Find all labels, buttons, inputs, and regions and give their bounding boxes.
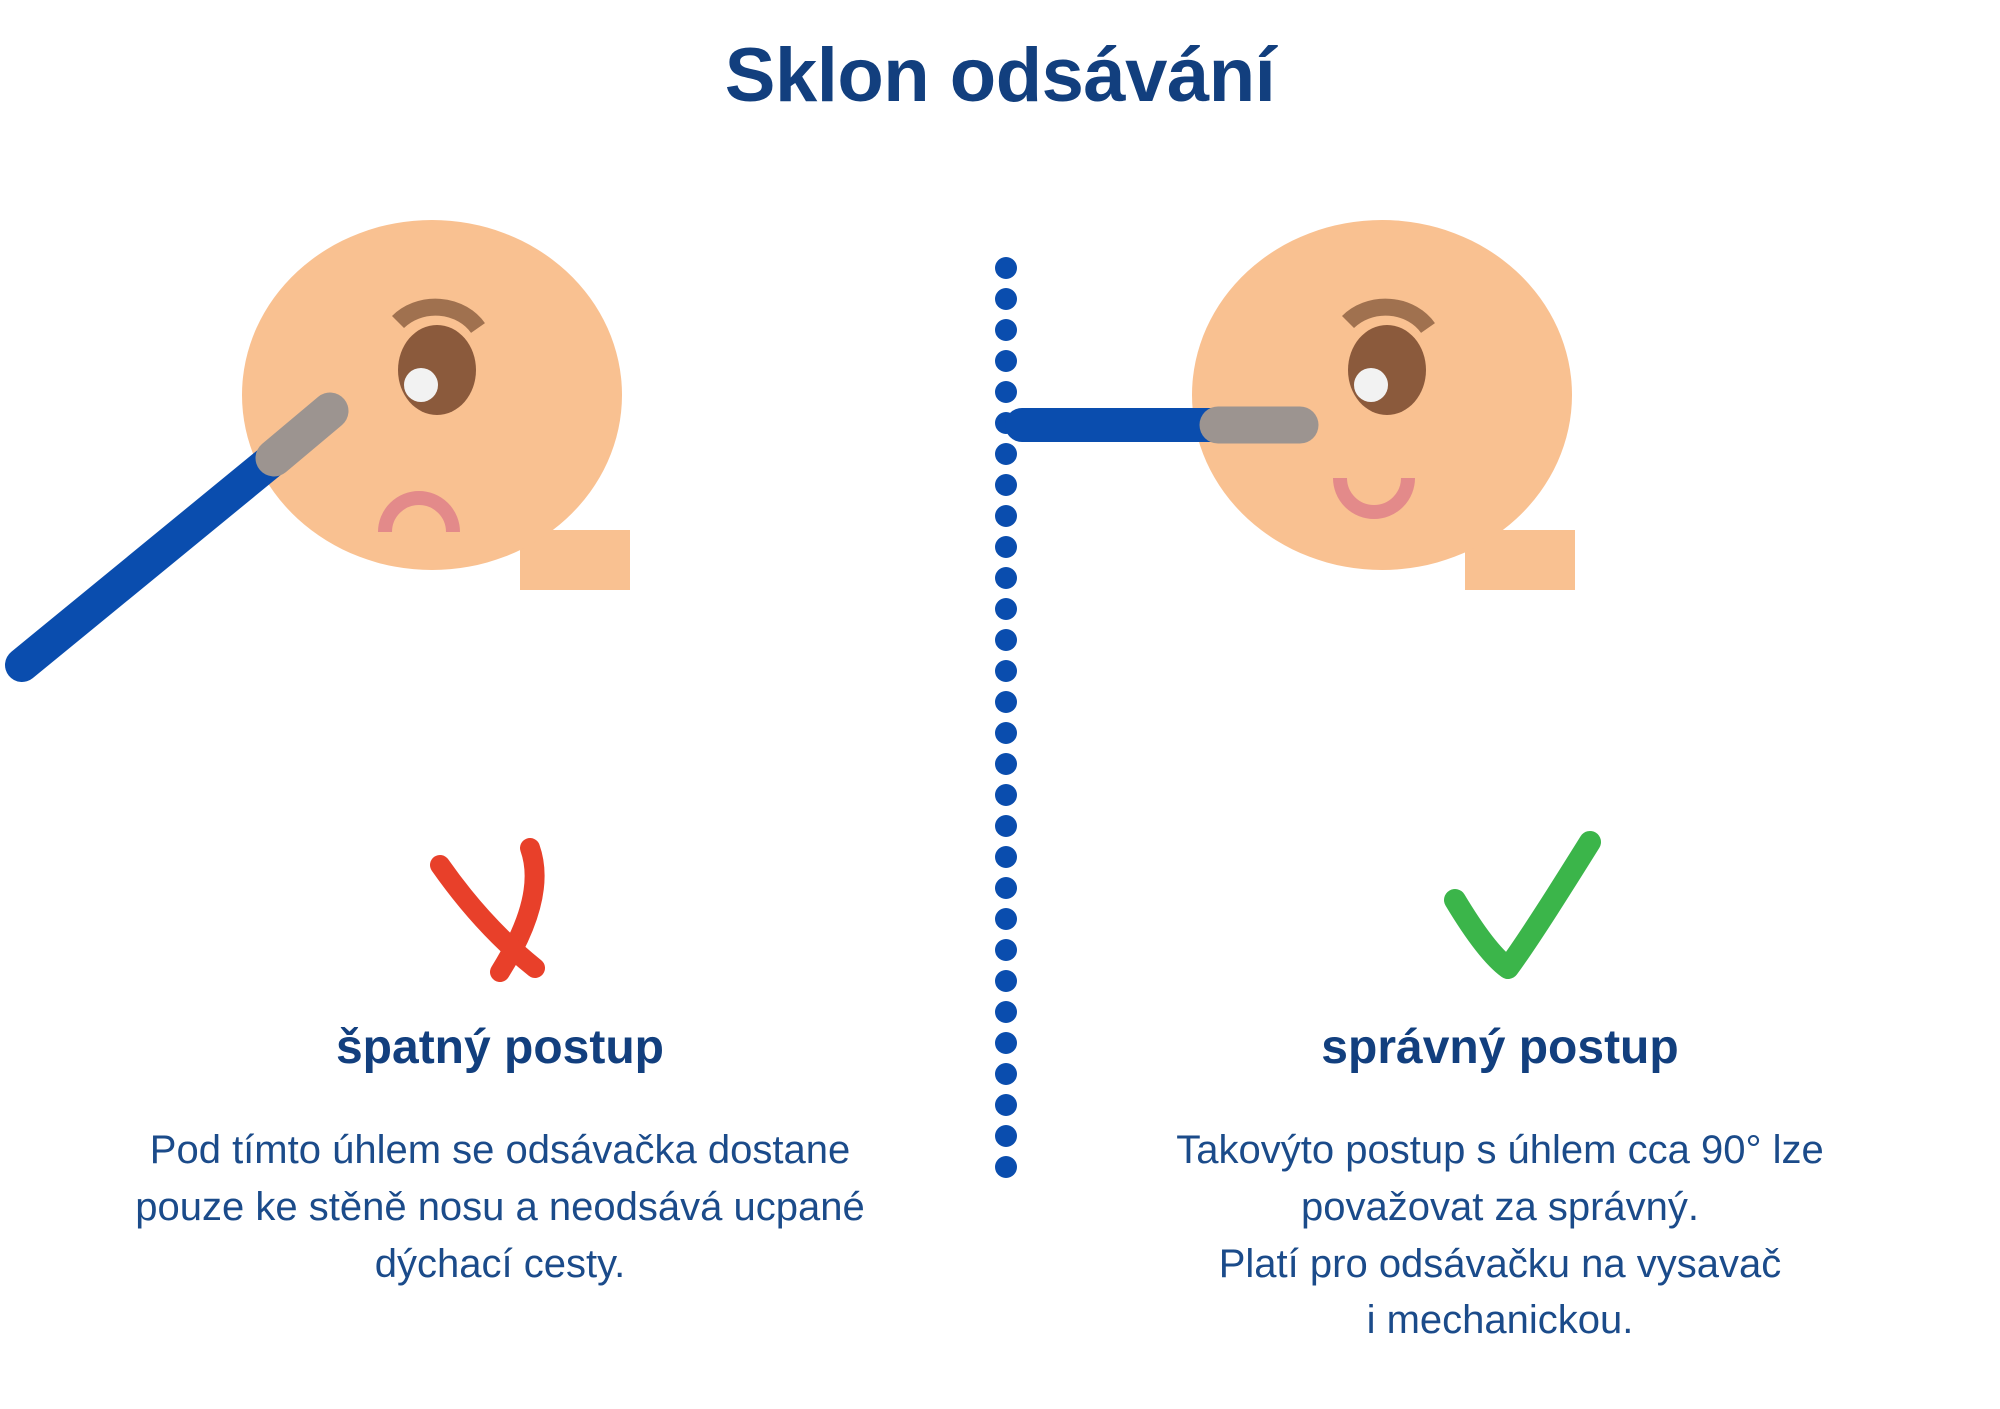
body-line: Takovýto postup s úhlem cca 90° lze — [1000, 1122, 2000, 1179]
body-line: pouze ke stěně nosu a neodsává ucpané — [0, 1179, 1000, 1236]
body-text-wrong: Pod tímto úhlem se odsávačka dostane pou… — [0, 1122, 1000, 1292]
panel-wrong-procedure: špatný postup Pod tímto úhlem se odsávač… — [0, 0, 1000, 1409]
eye — [398, 325, 476, 415]
status-mark-wrong — [0, 820, 1000, 1010]
body-line: dýchací cesty. — [0, 1236, 1000, 1293]
illustration-correct — [1000, 210, 2000, 850]
eye — [1348, 325, 1426, 415]
eye-highlight-icon — [1354, 368, 1388, 402]
caption-wrong: špatný postup — [0, 1020, 1000, 1075]
caption-correct: správný postup — [1000, 1020, 2000, 1075]
check-icon — [1000, 820, 2000, 1010]
panel-correct-procedure: správný postup Takovýto postup s úhlem c… — [1000, 0, 2000, 1409]
body-text-correct: Takovýto postup s úhlem cca 90° lze pova… — [1000, 1122, 2000, 1349]
eye-highlight-icon — [404, 368, 438, 402]
status-mark-correct — [1000, 820, 2000, 1010]
infographic-page: Sklon odsávání — [0, 0, 2000, 1409]
body-line: Platí pro odsávačku na vysavač — [1000, 1236, 2000, 1293]
body-line: považovat za správný. — [1000, 1179, 2000, 1236]
cross-icon — [0, 820, 1000, 1010]
body-line: i mechanickou. — [1000, 1292, 2000, 1349]
illustration-wrong — [0, 210, 1000, 850]
body-line: Pod tímto úhlem se odsávačka dostane — [0, 1122, 1000, 1179]
suction-tube — [22, 443, 293, 665]
